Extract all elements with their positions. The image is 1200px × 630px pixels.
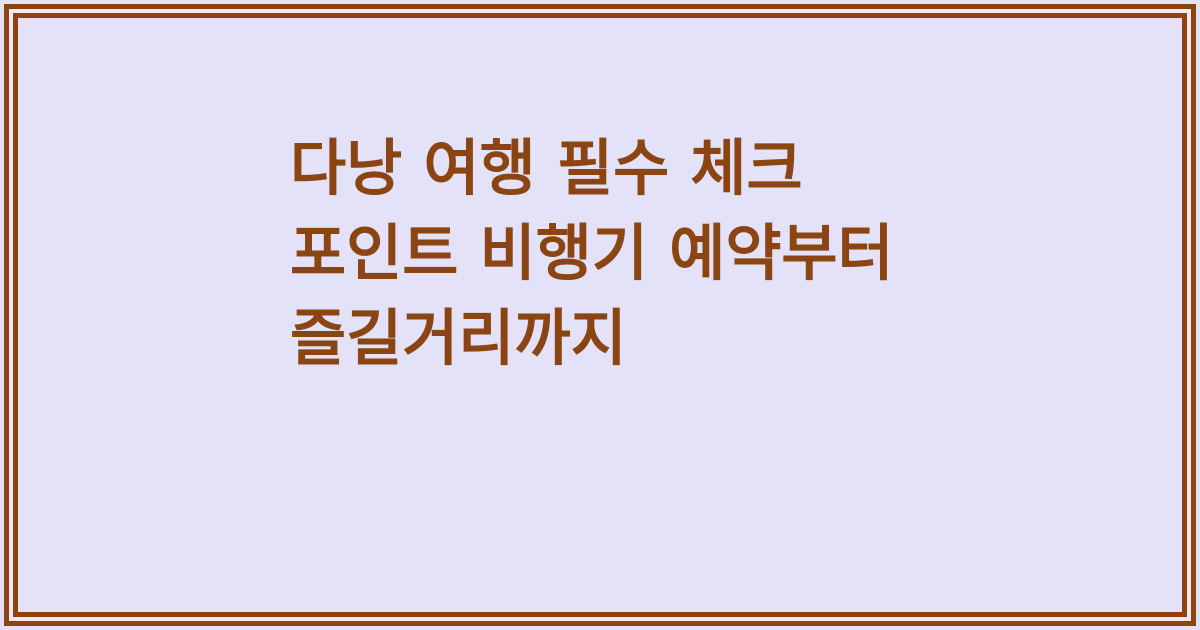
page-title: 다낭 여행 필수 체크 포인트 비행기 예약부터 즐길거리까지 bbox=[290, 126, 930, 381]
headline-block: 다낭 여행 필수 체크 포인트 비행기 예약부터 즐길거리까지 bbox=[290, 126, 930, 381]
decorative-inner-border: 다낭 여행 필수 체크 포인트 비행기 예약부터 즐길거리까지 bbox=[13, 13, 1187, 617]
decorative-outer-border: 다낭 여행 필수 체크 포인트 비행기 예약부터 즐길거리까지 bbox=[4, 4, 1196, 626]
thumbnail-card: 다낭 여행 필수 체크 포인트 비행기 예약부터 즐길거리까지 bbox=[0, 0, 1200, 630]
